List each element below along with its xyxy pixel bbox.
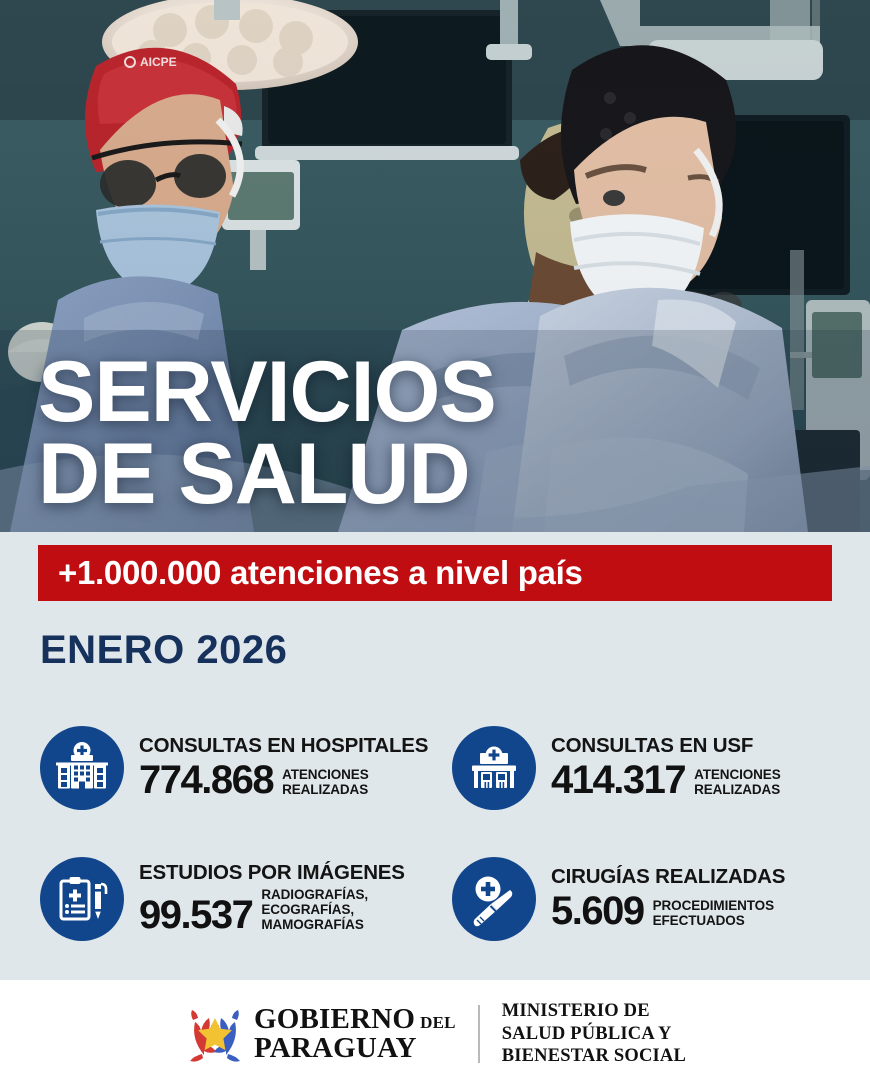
stat-body: CONSULTAS EN HOSPITALES 774.868 ATENCION…: [124, 735, 428, 800]
scalpel-icon: [452, 857, 536, 941]
stat-title: CONSULTAS EN HOSPITALES: [139, 735, 428, 757]
government-wordmark: GOBIERNO DEL PARAGUAY: [246, 1005, 456, 1063]
stat-card-consultas-hospitales: CONSULTAS EN HOSPITALES 774.868 ATENCION…: [40, 700, 452, 835]
stat-title: ESTUDIOS POR IMÁGENES: [139, 862, 405, 884]
stat-row: 5.609 PROCEDIMIENTOS EFECTUADOS: [551, 891, 785, 931]
stat-body: CONSULTAS EN USF 414.317 ATENCIONES REAL…: [536, 735, 781, 800]
stat-unit: RADIOGRAFÍAS, ECOGRAFÍAS, MAMOGRAFÍAS: [252, 887, 368, 935]
stat-unit: ATENCIONES REALIZADAS: [273, 767, 369, 800]
stat-value: 5.609: [551, 891, 644, 931]
stat-unit: PROCEDIMIENTOS EFECTUADOS: [644, 898, 774, 931]
gov-word-del: DEL: [415, 1014, 456, 1031]
stat-title: CIRUGÍAS REALIZADAS: [551, 866, 785, 888]
stat-row: 774.868 ATENCIONES REALIZADAS: [139, 760, 428, 800]
footer-logo-lockup: GOBIERNO DEL PARAGUAY MINISTERIO DE SALU…: [184, 1000, 686, 1068]
clipboard-pen-icon: [40, 857, 124, 941]
stats-grid: CONSULTAS EN HOSPITALES 774.868 ATENCION…: [40, 700, 840, 962]
infographic-poster: AICPE: [0, 0, 870, 1088]
gov-line-2: PARAGUAY: [254, 1034, 456, 1063]
stat-card-cirugias-realizadas: CIRUGÍAS REALIZADAS 5.609 PROCEDIMIENTOS…: [452, 835, 840, 962]
period-label: ENERO 2026: [40, 628, 287, 673]
gov-word-paraguay: PARAGUAY: [254, 1034, 417, 1063]
stat-card-estudios-imagenes: ESTUDIOS POR IMÁGENES 99.537 RADIOGRAFÍA…: [40, 835, 452, 962]
stat-row: 414.317 ATENCIONES REALIZADAS: [551, 760, 781, 800]
stat-row: 99.537 RADIOGRAFÍAS, ECOGRAFÍAS, MAMOGRA…: [139, 887, 405, 935]
ministry-name: MINISTERIO DE SALUD PÚBLICA Y BIENESTAR …: [502, 1000, 686, 1068]
footer-bar: GOBIERNO DEL PARAGUAY MINISTERIO DE SALU…: [0, 980, 870, 1088]
stat-card-consultas-usf: CONSULTAS EN USF 414.317 ATENCIONES REAL…: [452, 700, 840, 835]
hospital-building-icon: [40, 726, 124, 810]
stat-unit: ATENCIONES REALIZADAS: [685, 767, 781, 800]
paraguay-wreath-star-emblem: [184, 1003, 246, 1065]
gov-line-1: GOBIERNO DEL: [254, 1005, 456, 1034]
stat-body: CIRUGÍAS REALIZADAS 5.609 PROCEDIMIENTOS…: [536, 866, 785, 931]
highlight-banner: +1.000.000 atenciones a nivel país: [38, 545, 832, 601]
footer-divider: [478, 1005, 480, 1063]
page-title: SERVICIOS DE SALUD: [38, 352, 496, 515]
clinic-usf-icon: [452, 726, 536, 810]
stat-value: 774.868: [139, 760, 273, 800]
stat-title: CONSULTAS EN USF: [551, 735, 781, 757]
stat-value: 414.317: [551, 760, 685, 800]
gov-word-gobierno: GOBIERNO: [254, 1005, 415, 1034]
highlight-banner-text: +1.000.000 atenciones a nivel país: [38, 554, 583, 592]
stat-body: ESTUDIOS POR IMÁGENES 99.537 RADIOGRAFÍA…: [124, 862, 405, 935]
stat-value: 99.537: [139, 895, 252, 935]
